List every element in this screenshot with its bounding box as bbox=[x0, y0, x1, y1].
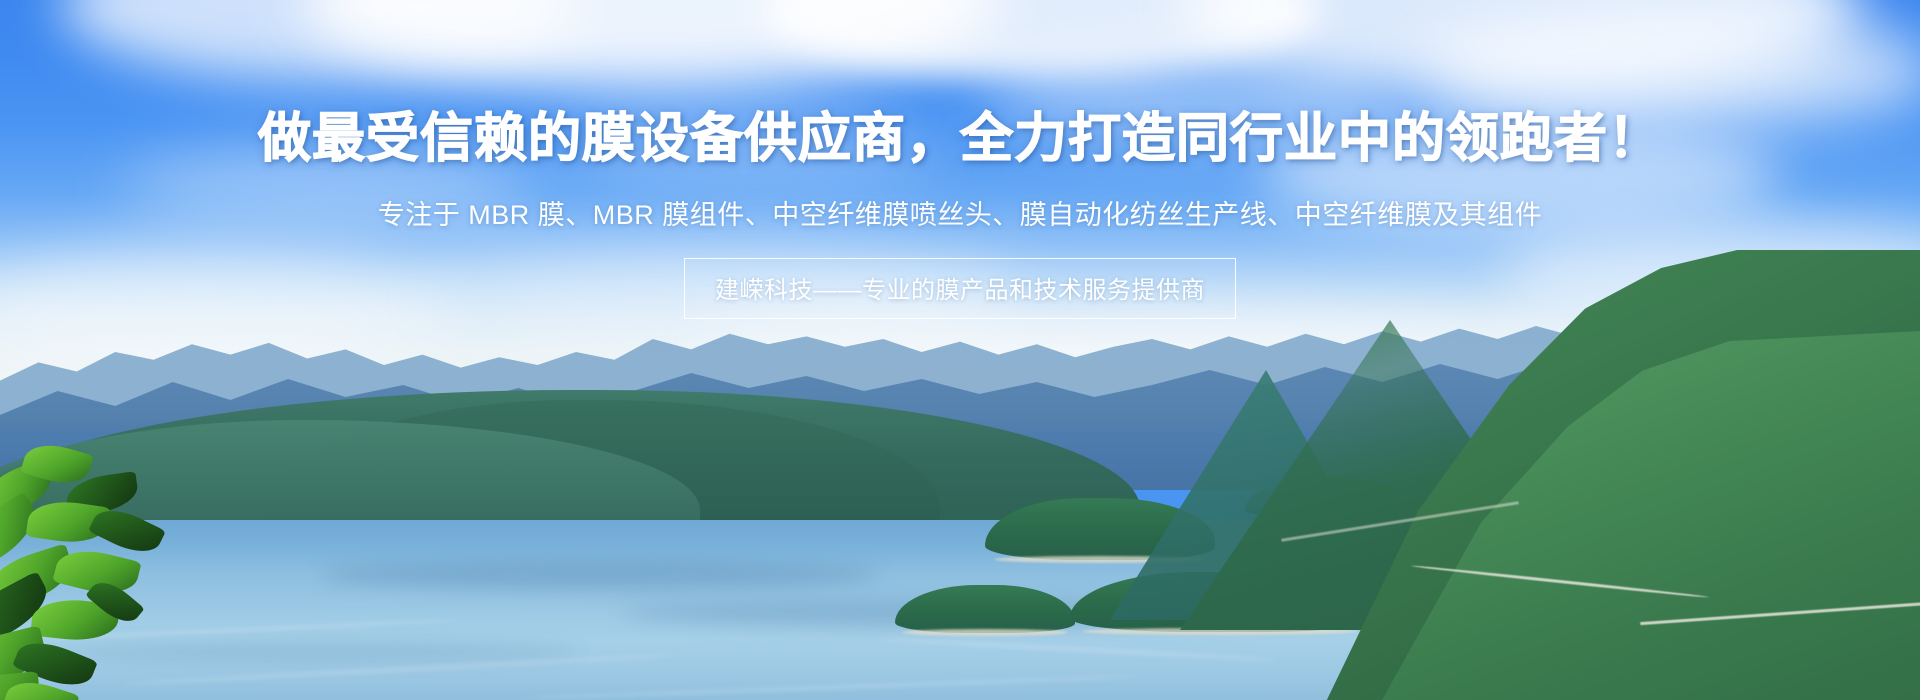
banner-subheadline: 专注于 MBR 膜、MBR 膜组件、中空纤维膜喷丝头、膜自动化纺丝生产线、中空纤… bbox=[378, 193, 1543, 232]
banner-tagline-box: 建嵘科技——专业的膜产品和技术服务提供商 bbox=[684, 258, 1236, 319]
banner-headline: 做最受信赖的膜设备供应商，全力打造同行业中的领跑者！ bbox=[258, 112, 1662, 165]
island-shore bbox=[902, 629, 1068, 636]
foreground-tree bbox=[0, 440, 230, 700]
hero-banner: 做最受信赖的膜设备供应商，全力打造同行业中的领跑者！ 专注于 MBR 膜、MBR… bbox=[0, 0, 1920, 700]
water-shadow bbox=[320, 560, 880, 590]
